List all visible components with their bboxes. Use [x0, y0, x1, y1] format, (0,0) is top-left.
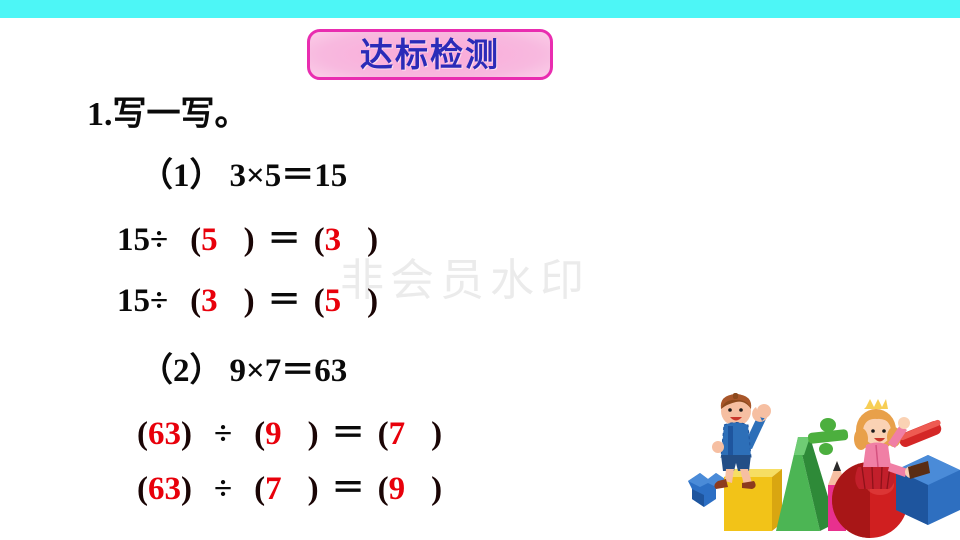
question-number-2: （2）	[140, 353, 223, 389]
lparen-q2b-0: (	[137, 471, 148, 507]
rparen-q2b-2: )	[431, 471, 442, 507]
lparen-q2b-1: (	[254, 471, 265, 507]
divide-operator-q2b: ÷	[214, 471, 232, 507]
equals-q1a: ＝	[268, 222, 301, 258]
rparen-q1b-2: )	[367, 283, 378, 319]
rparen-q1a-1: )	[244, 222, 255, 258]
equals-q2b: ＝	[332, 471, 365, 507]
rparen-q2a-0: )	[181, 416, 192, 452]
rparen-q1a-2: )	[367, 222, 378, 258]
rparen-q2a-2: )	[431, 416, 442, 452]
equals-q1b: ＝	[268, 283, 301, 319]
lparen-q2a-2: (	[378, 416, 389, 452]
answer-q1a-1[interactable]: 5	[201, 222, 218, 258]
lparen-q1a-2: (	[314, 222, 325, 258]
lparen-q2b-2: (	[378, 471, 389, 507]
lparen-q1a-1: (	[190, 222, 201, 258]
divide-operator-q1a: ÷	[150, 222, 168, 258]
answer-q1a-2[interactable]: 3	[325, 222, 342, 258]
answer-q1b-2[interactable]: 5	[325, 283, 342, 319]
slide-canvas: 达标检测 非会员水印 1.写一写。 （1）3×5＝15 15÷(5)＝(3) 1…	[0, 0, 960, 540]
equation-line-q1: （1）3×5＝15	[140, 160, 347, 193]
answer-q2a-dividend[interactable]: 63	[148, 416, 181, 452]
equation-line-q2a: (63)÷(9)＝(7)	[137, 418, 442, 451]
answer-q2a-1[interactable]: 9	[265, 416, 282, 452]
lparen-q2a-1: (	[254, 416, 265, 452]
divide-operator-q1b: ÷	[150, 283, 168, 319]
lparen-q1b-1: (	[190, 283, 201, 319]
equation-body-q1: 3×5＝15	[230, 158, 348, 194]
equation-line-q2: （2）9×7＝63	[140, 355, 347, 388]
equation-line-q1a: 15÷(5)＝(3)	[117, 224, 378, 257]
dividend-q1a: 15	[117, 222, 150, 258]
answer-q2b-dividend[interactable]: 63	[148, 471, 181, 507]
answer-q2b-2[interactable]: 9	[389, 471, 406, 507]
divide-operator-q2a: ÷	[214, 416, 232, 452]
question-number-1: （1）	[140, 158, 223, 194]
answer-q2a-2[interactable]: 7	[389, 416, 406, 452]
rparen-q2b-1: )	[308, 471, 319, 507]
lparen-q1b-2: (	[314, 283, 325, 319]
answer-q1b-1[interactable]: 3	[201, 283, 218, 319]
exercise-heading: 1.写一写。	[87, 98, 249, 132]
equation-line-q2b: (63)÷(7)＝(9)	[137, 473, 442, 506]
equation-line-q1b: 15÷(3)＝(5)	[117, 285, 378, 318]
rparen-q2a-1: )	[308, 416, 319, 452]
answer-q2b-1[interactable]: 7	[265, 471, 282, 507]
equation-body-q2: 9×7＝63	[230, 353, 348, 389]
lparen-q2a-0: (	[137, 416, 148, 452]
rparen-q2b-0: )	[181, 471, 192, 507]
dividend-q1b: 15	[117, 283, 150, 319]
rparen-q1b-1: )	[244, 283, 255, 319]
exercise-content: 1.写一写。 （1）3×5＝15 15÷(5)＝(3) 15÷(3)＝(5) （…	[0, 0, 960, 540]
equals-q2a: ＝	[332, 416, 365, 452]
